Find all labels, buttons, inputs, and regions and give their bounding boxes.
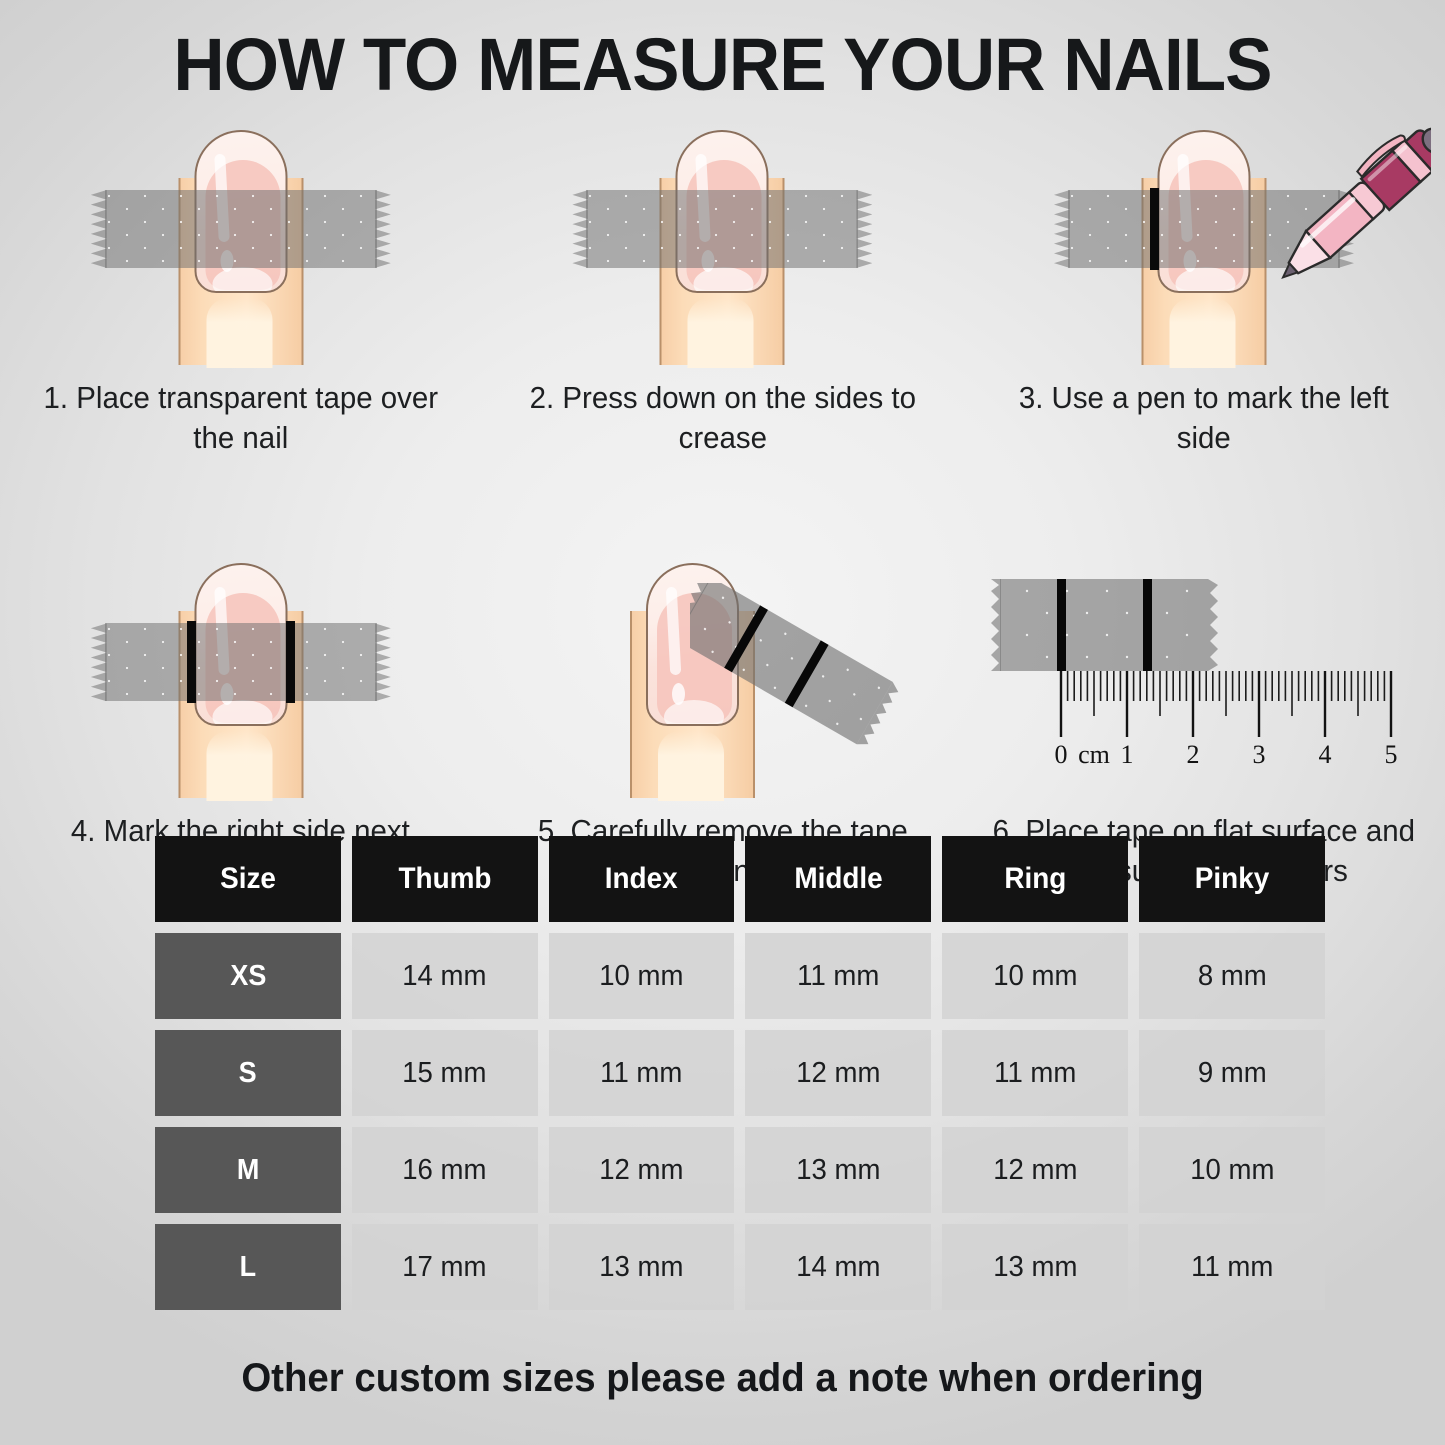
tape-strip-icon	[572, 190, 872, 268]
cell-m-middle: 13 mm	[745, 1127, 931, 1213]
step-3-illustration	[963, 112, 1445, 374]
cell-xs-ring: 10 mm	[942, 933, 1128, 1019]
cell-s-middle: 12 mm	[745, 1030, 931, 1116]
cell-s-thumb: 15 mm	[352, 1030, 538, 1116]
tape-zigzag-right	[856, 190, 872, 268]
cell-s-index: 11 mm	[549, 1030, 735, 1116]
tape-strip-icon	[91, 190, 391, 268]
tape-zigzag-right	[375, 190, 391, 268]
tape-strip-icon	[91, 623, 391, 701]
table-row: S 15 mm 11 mm 12 mm 11 mm 9 mm	[155, 1030, 1325, 1116]
size-label-l: L	[155, 1224, 341, 1310]
ruler-label-0: 0	[1055, 740, 1068, 769]
step-4-illustration	[0, 545, 482, 807]
peeling-tape-icon	[690, 583, 950, 763]
column-header-pinky: Pinky	[1139, 836, 1325, 922]
table-row: M 16 mm 12 mm 13 mm 12 mm 10 mm	[155, 1127, 1325, 1213]
nail-moon	[694, 267, 754, 293]
cell-m-ring: 12 mm	[942, 1127, 1128, 1213]
pen-icon	[1231, 114, 1431, 314]
step-2-illustration	[482, 112, 964, 374]
ruler-label-4: 4	[1319, 740, 1332, 769]
tape-texture	[586, 190, 858, 268]
step-2: 2. Press down on the sides to crease	[482, 112, 964, 457]
step-6-illustration: 0 cm 1 2 3 4 5	[963, 545, 1445, 807]
step-5-illustration	[482, 545, 964, 807]
table-row: L 17 mm 13 mm 14 mm 13 mm 11 mm	[155, 1224, 1325, 1310]
nail-moon	[212, 267, 272, 293]
cell-s-pinky: 9 mm	[1139, 1030, 1325, 1116]
cell-xs-pinky: 8 mm	[1139, 933, 1325, 1019]
cell-xs-thumb: 14 mm	[352, 933, 538, 1019]
size-table: Size Thumb Index Middle Ring Pinky XS 14…	[155, 836, 1325, 1321]
pen-mark-left	[1150, 188, 1159, 270]
infographic-page: HOW TO MEASURE YOUR NAILS	[0, 0, 1445, 1445]
table-row: XS 14 mm 10 mm 11 mm 10 mm 8 mm	[155, 933, 1325, 1019]
cell-l-middle: 14 mm	[745, 1224, 931, 1310]
cell-l-thumb: 17 mm	[352, 1224, 538, 1310]
ruler-label-cm: cm	[1078, 740, 1110, 769]
ruler-label-1: 1	[1121, 740, 1134, 769]
nail-shine-dot	[672, 683, 685, 705]
steps-row-1: 1. Place transparent tape over the nail	[0, 112, 1445, 457]
pen-mark-right	[286, 621, 295, 703]
step-1-caption: 1. Place transparent tape over the nail	[12, 374, 470, 457]
steps-grid: 1. Place transparent tape over the nail	[0, 112, 1445, 891]
step-3: 3. Use a pen to mark the left side	[963, 112, 1445, 457]
ruler-label-5: 5	[1385, 740, 1398, 769]
cell-m-pinky: 10 mm	[1139, 1127, 1325, 1213]
ruler-label-3: 3	[1253, 740, 1266, 769]
step-3-caption: 3. Use a pen to mark the left side	[975, 374, 1433, 457]
ruler-icon: 0 cm 1 2 3 4 5	[991, 561, 1411, 771]
tape-texture	[105, 190, 377, 268]
table-header-row: Size Thumb Index Middle Ring Pinky	[155, 836, 1325, 922]
nail-moon	[1175, 267, 1235, 293]
cell-l-index: 13 mm	[549, 1224, 735, 1310]
size-label-s: S	[155, 1030, 341, 1116]
column-header-thumb: Thumb	[352, 836, 538, 922]
cell-m-index: 12 mm	[549, 1127, 735, 1213]
nail-moon	[212, 700, 272, 726]
column-header-index: Index	[549, 836, 735, 922]
cell-xs-middle: 11 mm	[745, 933, 931, 1019]
footer-note: Other custom sizes please add a note whe…	[29, 1356, 1416, 1401]
cell-s-ring: 11 mm	[942, 1030, 1128, 1116]
page-title: HOW TO MEASURE YOUR NAILS	[29, 22, 1416, 107]
tape-zigzag-right	[375, 623, 391, 701]
step-1: 1. Place transparent tape over the nail	[0, 112, 482, 457]
step-1-illustration	[0, 112, 482, 374]
cell-l-pinky: 11 mm	[1139, 1224, 1325, 1310]
cell-m-thumb: 16 mm	[352, 1127, 538, 1213]
cell-xs-index: 10 mm	[549, 933, 735, 1019]
size-label-m: M	[155, 1127, 341, 1213]
column-header-size: Size	[155, 836, 341, 922]
tape-texture	[105, 623, 377, 701]
pen-mark-left	[187, 621, 196, 703]
ruler-label-2: 2	[1187, 740, 1200, 769]
cell-l-ring: 13 mm	[942, 1224, 1128, 1310]
size-label-xs: XS	[155, 933, 341, 1019]
column-header-middle: Middle	[745, 836, 931, 922]
tape-on-ruler	[991, 579, 1218, 671]
step-2-caption: 2. Press down on the sides to crease	[494, 374, 952, 457]
column-header-ring: Ring	[942, 836, 1128, 922]
